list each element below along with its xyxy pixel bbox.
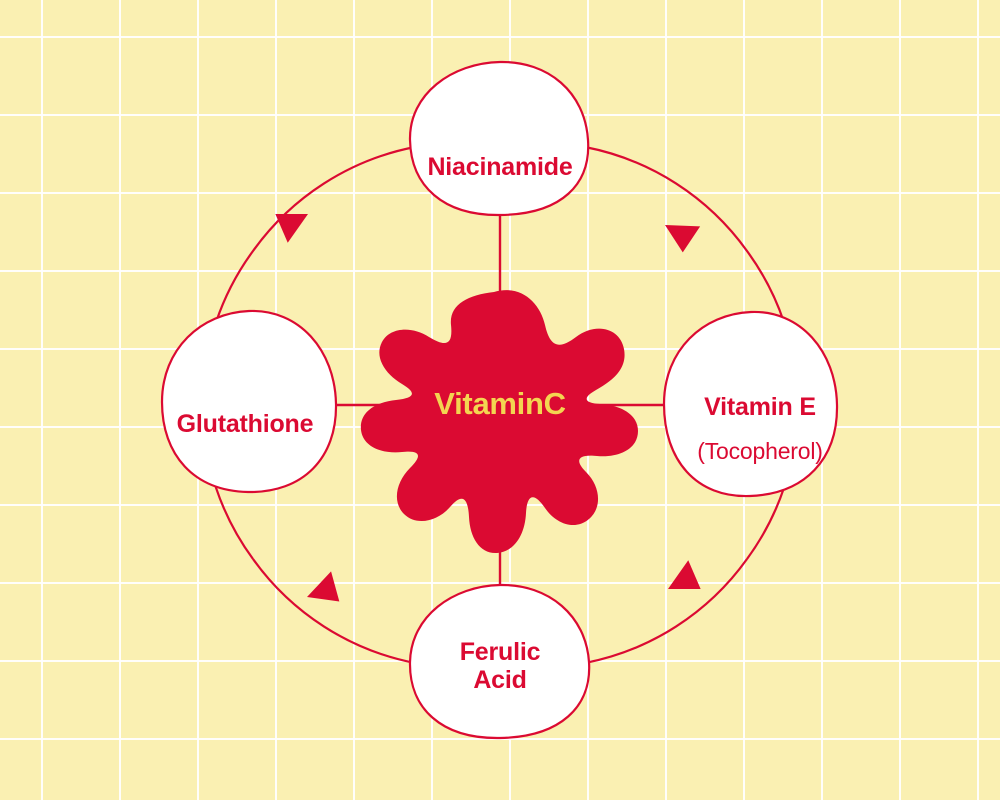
arc-ferulic-to-glutathione: [253, 559, 415, 663]
diagram-canvas: Niacinamide Vitamin E (Tocopherol) Ferul…: [0, 0, 1000, 800]
center-label-vitamin-c: VitaminC: [375, 386, 625, 422]
arc-vitamin-e-to-ferulic: [585, 559, 747, 663]
node-shape-ferulic-acid[interactable]: [410, 585, 589, 738]
node-shape-glutathione[interactable]: [162, 311, 336, 492]
node-shape-vitamin-e[interactable]: [664, 312, 837, 496]
arrowhead-bottom-left: [302, 571, 347, 614]
arrowhead-top-right: [659, 216, 700, 255]
node-shape-niacinamide[interactable]: [410, 62, 588, 215]
arrowhead-top-left: [268, 198, 313, 243]
arrowhead-bottom-right: [662, 560, 707, 605]
